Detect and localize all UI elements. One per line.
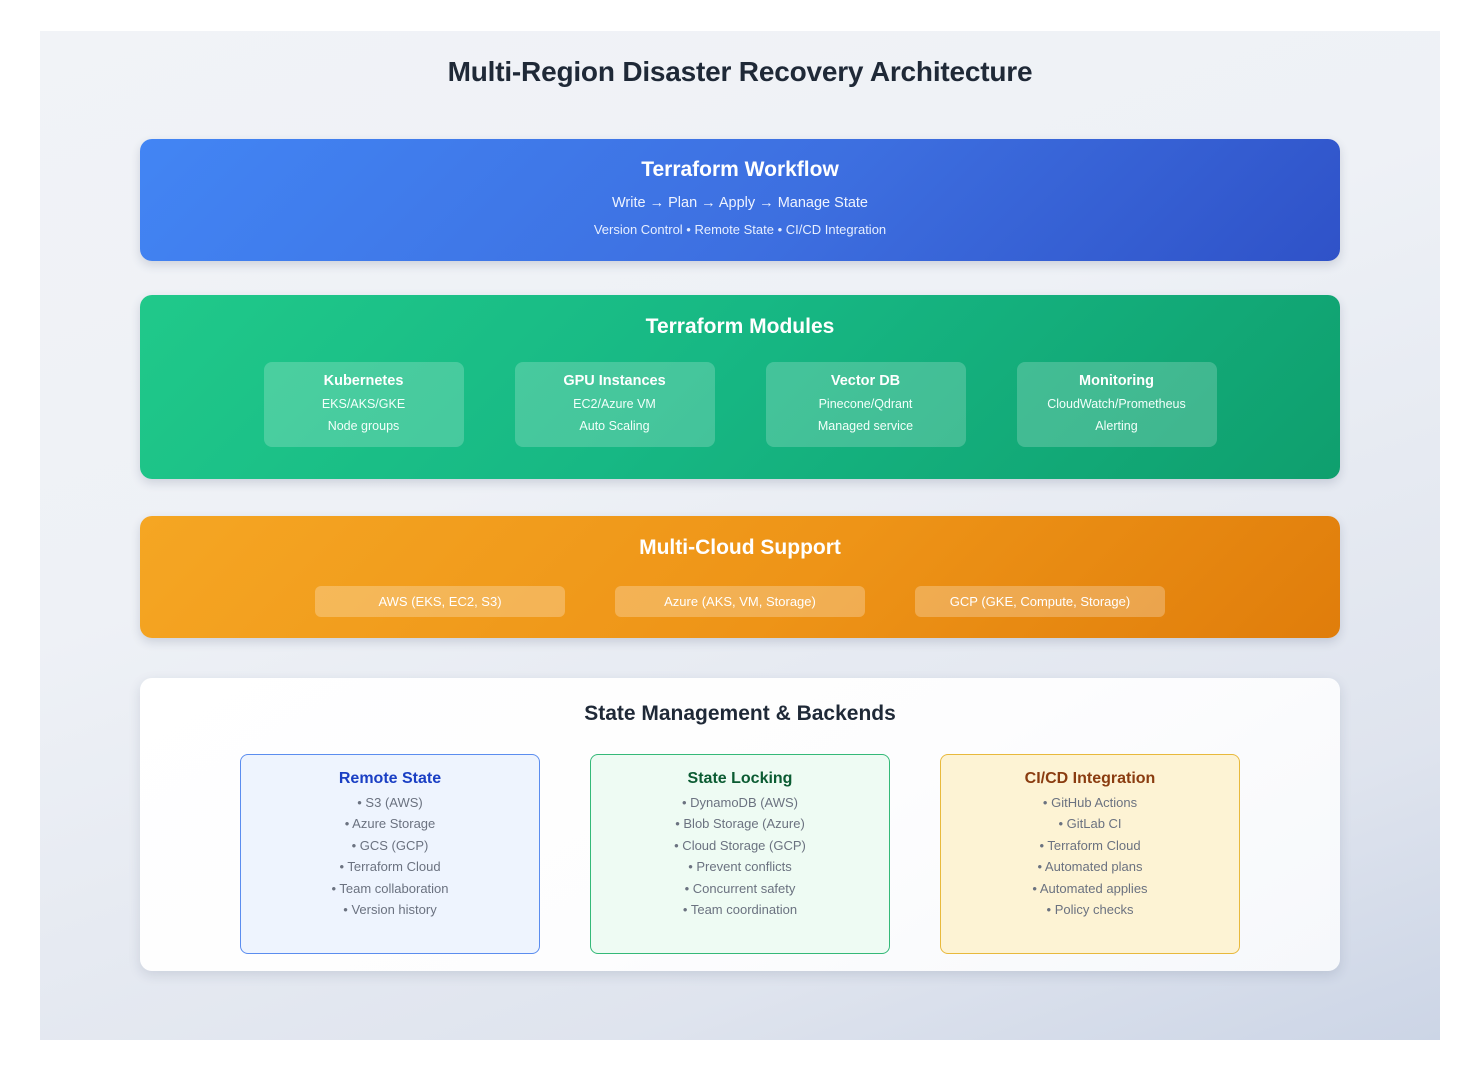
cloud-pill-gcp[interactable]: GCP (GKE, Compute, Storage) bbox=[915, 586, 1165, 617]
diagram-canvas: Multi-Region Disaster Recovery Architect… bbox=[40, 31, 1440, 1040]
state-card-item: • Prevent conflicts bbox=[591, 859, 889, 874]
terraform-workflow-title: Terraform Workflow bbox=[140, 158, 1340, 182]
state-card-cicd-integration[interactable]: CI/CD Integration • GitHub Actions • Git… bbox=[940, 754, 1240, 954]
terraform-workflow-features: Version Control • Remote State • CI/CD I… bbox=[140, 222, 1340, 237]
state-card-item: • S3 (AWS) bbox=[241, 795, 539, 810]
state-management-panel: State Management & Backends Remote State… bbox=[140, 678, 1340, 971]
state-card-item: • GitHub Actions bbox=[941, 795, 1239, 810]
module-card-line2: Node groups bbox=[264, 419, 464, 433]
state-card-item: • Automated applies bbox=[941, 881, 1239, 896]
state-card-title: State Locking bbox=[591, 770, 889, 788]
multi-cloud-support-title: Multi-Cloud Support bbox=[140, 536, 1340, 560]
multi-cloud-support-band: Multi-Cloud Support AWS (EKS, EC2, S3) A… bbox=[140, 516, 1340, 638]
state-card-item: • GCS (GCP) bbox=[241, 838, 539, 853]
state-card-item: • Azure Storage bbox=[241, 816, 539, 831]
state-card-title: CI/CD Integration bbox=[941, 770, 1239, 788]
cloud-pill-aws[interactable]: AWS (EKS, EC2, S3) bbox=[315, 586, 565, 617]
module-card-line2: Alerting bbox=[1017, 419, 1217, 433]
state-card-remote-state[interactable]: Remote State • S3 (AWS) • Azure Storage … bbox=[240, 754, 540, 954]
module-card-line1: EC2/Azure VM bbox=[515, 397, 715, 411]
terraform-modules-title: Terraform Modules bbox=[140, 315, 1340, 339]
page-title: Multi-Region Disaster Recovery Architect… bbox=[40, 56, 1440, 88]
state-card-item: • Terraform Cloud bbox=[941, 838, 1239, 853]
module-card-title: Monitoring bbox=[1017, 373, 1217, 389]
module-card-line2: Auto Scaling bbox=[515, 419, 715, 433]
module-card-title: GPU Instances bbox=[515, 373, 715, 389]
state-card-item: • Blob Storage (Azure) bbox=[591, 816, 889, 831]
state-card-item: • GitLab CI bbox=[941, 816, 1239, 831]
module-card-line1: Pinecone/Qdrant bbox=[766, 397, 966, 411]
state-card-item: • Cloud Storage (GCP) bbox=[591, 838, 889, 853]
state-card-item: • Version history bbox=[241, 902, 539, 917]
state-card-item: • Team collaboration bbox=[241, 881, 539, 896]
module-card-vector-db[interactable]: Vector DB Pinecone/Qdrant Managed servic… bbox=[766, 362, 966, 447]
terraform-workflow-flow: Write → Plan → Apply → Manage State bbox=[140, 195, 1340, 211]
module-card-row: Kubernetes EKS/AKS/GKE Node groups GPU I… bbox=[140, 362, 1340, 447]
module-card-gpu-instances[interactable]: GPU Instances EC2/Azure VM Auto Scaling bbox=[515, 362, 715, 447]
state-card-item: • Automated plans bbox=[941, 859, 1239, 874]
terraform-workflow-band: Terraform Workflow Write → Plan → Apply … bbox=[140, 139, 1340, 261]
module-card-title: Kubernetes bbox=[264, 373, 464, 389]
state-card-item: • Concurrent safety bbox=[591, 881, 889, 896]
module-card-kubernetes[interactable]: Kubernetes EKS/AKS/GKE Node groups bbox=[264, 362, 464, 447]
module-card-title: Vector DB bbox=[766, 373, 966, 389]
state-management-title: State Management & Backends bbox=[140, 702, 1340, 726]
module-card-line1: EKS/AKS/GKE bbox=[264, 397, 464, 411]
module-card-line2: Managed service bbox=[766, 419, 966, 433]
state-card-state-locking[interactable]: State Locking • DynamoDB (AWS) • Blob St… bbox=[590, 754, 890, 954]
terraform-modules-band: Terraform Modules Kubernetes EKS/AKS/GKE… bbox=[140, 295, 1340, 479]
state-card-item: • DynamoDB (AWS) bbox=[591, 795, 889, 810]
state-card-item: • Policy checks bbox=[941, 902, 1239, 917]
state-card-row: Remote State • S3 (AWS) • Azure Storage … bbox=[140, 754, 1340, 954]
state-card-item: • Terraform Cloud bbox=[241, 859, 539, 874]
module-card-line1: CloudWatch/Prometheus bbox=[1017, 397, 1217, 411]
module-card-monitoring[interactable]: Monitoring CloudWatch/Prometheus Alertin… bbox=[1017, 362, 1217, 447]
cloud-pill-row: AWS (EKS, EC2, S3) Azure (AKS, VM, Stora… bbox=[140, 586, 1340, 617]
state-card-item: • Team coordination bbox=[591, 902, 889, 917]
state-card-title: Remote State bbox=[241, 770, 539, 788]
cloud-pill-azure[interactable]: Azure (AKS, VM, Storage) bbox=[615, 586, 865, 617]
